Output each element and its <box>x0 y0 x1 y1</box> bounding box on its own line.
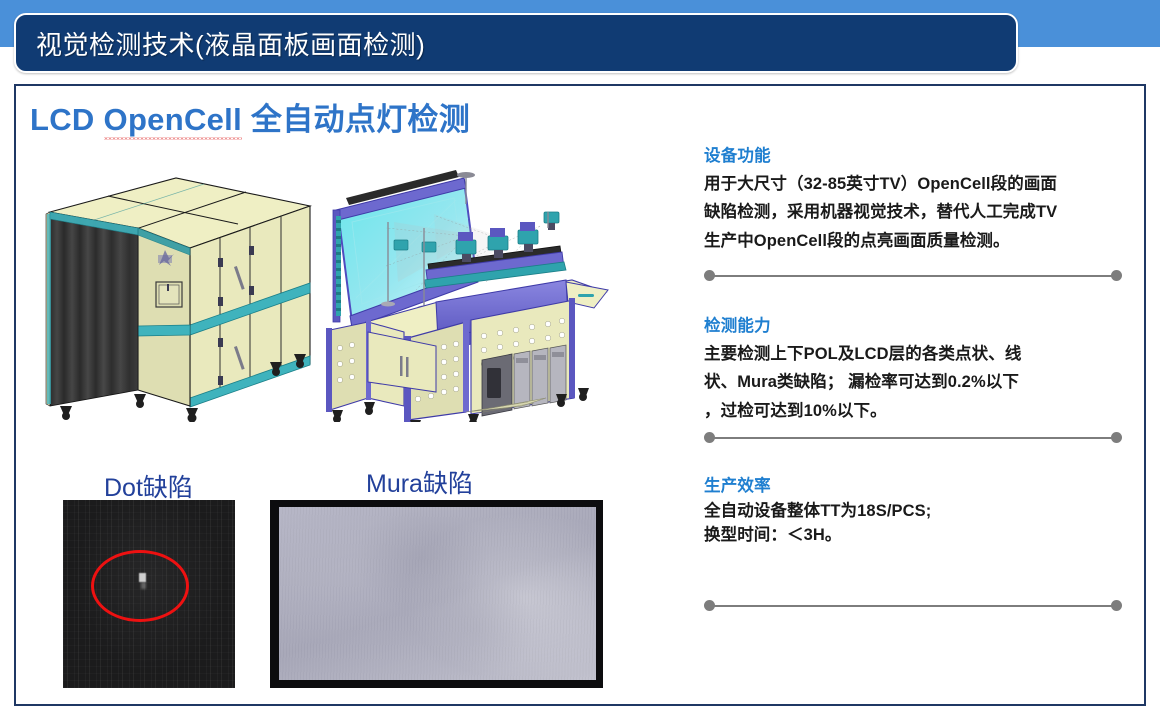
info-line: 主要检测上下POL及LCD层的各类点状、线 <box>704 340 1124 368</box>
info-block-heading: 设备功能 <box>704 142 1124 166</box>
info-block-heading: 检测能力 <box>704 312 1124 336</box>
cad-enclosure-cabinet-image <box>38 162 318 422</box>
divider-knob-right <box>1111 432 1122 443</box>
divider-bar <box>710 437 1116 439</box>
info-line: 生产中OpenCell段的点亮画面质量检测。 <box>704 227 1124 255</box>
mura-defect-photo <box>270 500 603 688</box>
cad-inspection-station-image <box>316 170 616 422</box>
content-panel: LCD OpenCell 全自动点灯检测 <box>14 84 1146 706</box>
info-line: 状、Mura类缺陷； 漏检率可达到0.2%以下 <box>704 368 1124 396</box>
defect-annotation-ellipse <box>91 550 189 622</box>
slide-root: 视觉检测技术(液晶面板画面检测) LCD OpenCell 全自动点灯检测 <box>0 0 1160 720</box>
divider-knob-right <box>1111 600 1122 611</box>
info-line: 全自动设备整体TT为18S/PCS; <box>704 500 1124 524</box>
info-block-body: 主要检测上下POL及LCD层的各类点状、线 状、Mura类缺陷； 漏检率可达到0… <box>704 340 1124 425</box>
info-block-heading: 生产效率 <box>704 472 1124 496</box>
left-column: Dot缺陷 Mura缺陷 <box>16 86 676 708</box>
divider-bar <box>710 275 1116 277</box>
mura-defect-label: Mura缺陷 <box>366 464 473 500</box>
info-block-equipment-function: 设备功能 用于大尺寸（32-85英寸TV）OpenCell段的画面 缺陷检测，采… <box>704 142 1124 255</box>
right-column: 设备功能 用于大尺寸（32-85英寸TV）OpenCell段的画面 缺陷检测，采… <box>676 86 1148 708</box>
info-line: 换型时间：＜3H。 <box>704 524 1124 548</box>
slide-header-bar: 视觉检测技术(液晶面板画面检测) <box>14 13 1018 73</box>
section-divider <box>704 270 1122 282</box>
mura-defect-panel-surface <box>279 507 596 680</box>
info-block-body: 用于大尺寸（32-85英寸TV）OpenCell段的画面 缺陷检测，采用机器视觉… <box>704 170 1124 255</box>
dot-defect-label: Dot缺陷 <box>104 468 193 504</box>
section-divider <box>704 600 1122 612</box>
header-title: 视觉检测技术(液晶面板画面检测) <box>36 25 425 62</box>
info-block-body: 全自动设备整体TT为18S/PCS; 换型时间：＜3H。 <box>704 500 1124 548</box>
dot-defect-photo <box>63 500 235 688</box>
section-divider <box>704 432 1122 444</box>
divider-knob-right <box>1111 270 1122 281</box>
divider-bar <box>710 605 1116 607</box>
info-line: 缺陷检测，采用机器视觉技术，替代人工完成TV <box>704 198 1124 226</box>
info-line: 用于大尺寸（32-85英寸TV）OpenCell段的画面 <box>704 170 1124 198</box>
info-block-production-efficiency: 生产效率 全自动设备整体TT为18S/PCS; 换型时间：＜3H。 <box>704 472 1124 548</box>
info-block-detection-capability: 检测能力 主要检测上下POL及LCD层的各类点状、线 状、Mura类缺陷； 漏检… <box>704 312 1124 425</box>
info-line: ，过检可达到10%以下。 <box>704 397 1124 425</box>
